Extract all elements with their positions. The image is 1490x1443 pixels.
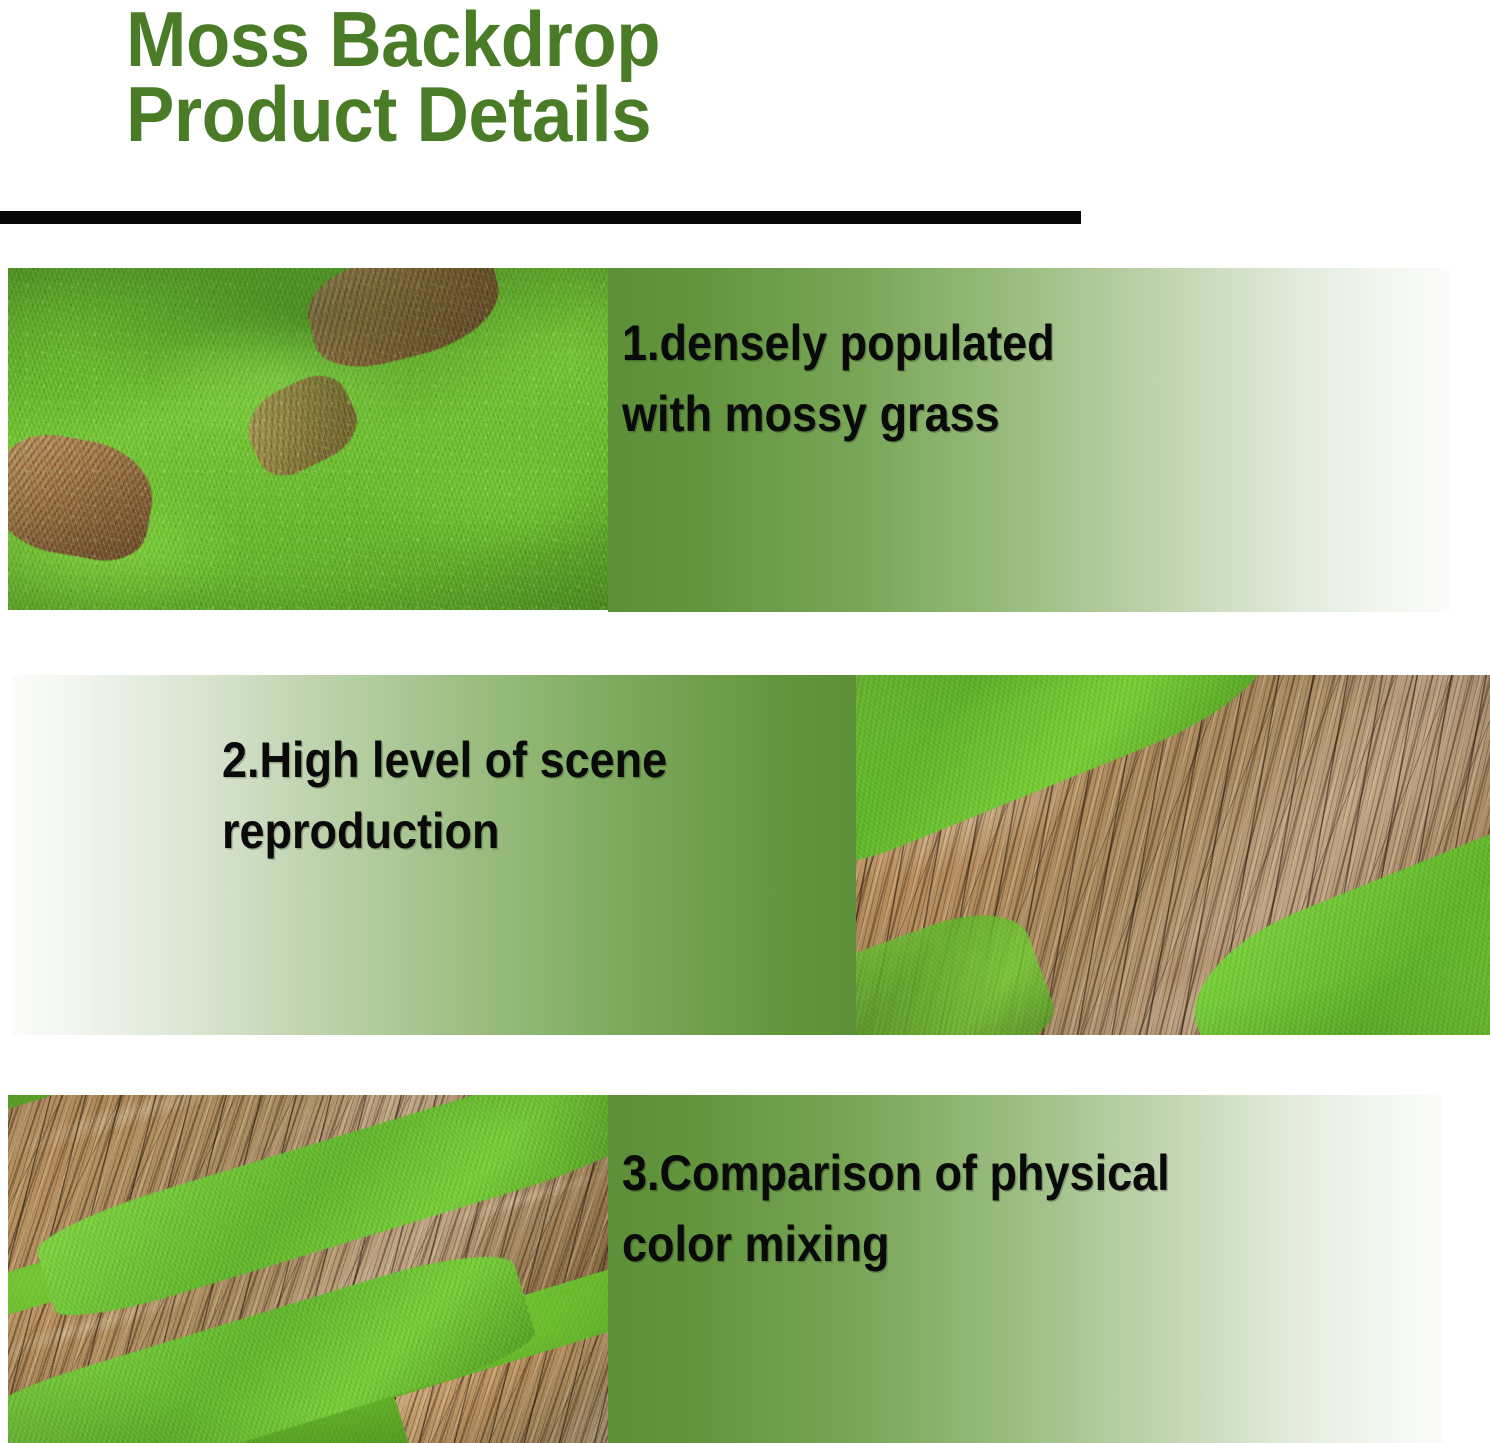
row-3-photo-bark-branches-moss [8,1095,608,1443]
feature-row-3: 3.Comparison of physical color mixing [0,1095,1490,1443]
feature-row-1: 1.densely populated with mossy grass [0,268,1490,612]
photo-vignette [856,675,1490,1035]
row-1-caption: 1.densely populated with mossy grass [622,308,1270,450]
photo-vignette [8,268,608,610]
row-1-photo-moss-grass [8,268,608,610]
feature-row-2: 2.High level of scene reproduction [0,675,1490,1035]
page-title: Moss Backdrop Product Details [126,2,963,152]
header: Moss Backdrop Product Details [0,0,1490,245]
photo-vignette [8,1095,608,1443]
row-2-caption: 2.High level of scene reproduction [222,725,870,867]
row-3-caption: 3.Comparison of physical color mixing [622,1138,1324,1280]
row-2-photo-bark-moss [856,675,1490,1035]
title-divider-rule [0,211,1081,224]
